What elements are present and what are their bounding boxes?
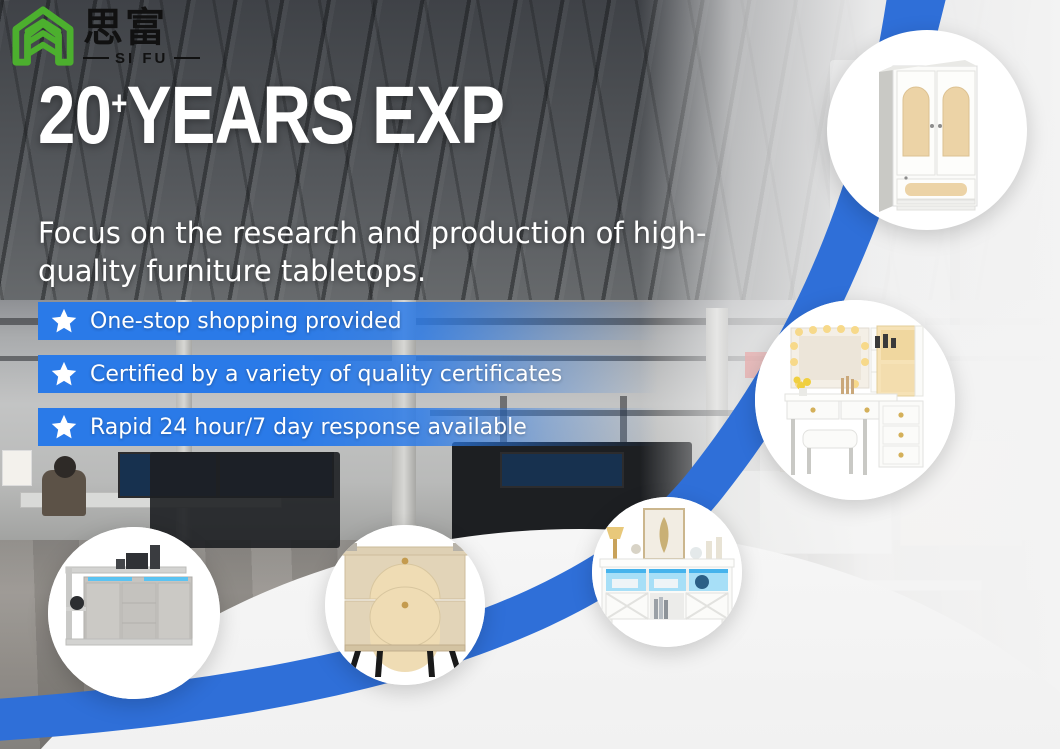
grey-led-sideboard-illustration [48,527,220,699]
logo-chinese-name: 思富 [83,8,200,48]
product-circle-vanity[interactable] [755,300,955,500]
product-circle-shoe-cabinet[interactable] [325,525,485,685]
logo-roman-name-row: SI FU [83,50,200,67]
logo-roman-name: SI FU [115,50,168,67]
star-icon [50,360,78,388]
headline-plus: + [111,85,126,123]
led-vanity-desk-illustration [755,300,955,500]
feature-label: Certified by a variety of quality certif… [90,362,562,387]
product-circle-tv-stand[interactable] [592,497,742,647]
led-tv-stand-illustration [592,497,742,647]
headline-rest: YEARS EXP [127,70,505,161]
brand-logo[interactable]: 思富 SI FU [12,6,200,68]
star-icon [50,413,78,441]
logo-dash-left [83,57,109,59]
feature-item-1: One-stop shopping provided [38,302,658,340]
headline-number: 20 [38,70,111,161]
feature-label: Rapid 24 hour/7 day response available [90,415,527,440]
rattan-shoe-cabinet-illustration [325,525,485,685]
product-circle-sideboard[interactable] [48,527,220,699]
logo-dash-right [174,57,200,59]
feature-item-3: Rapid 24 hour/7 day response available [38,408,658,446]
feature-label: One-stop shopping provided [90,309,402,334]
star-icon [50,307,78,335]
product-circle-wardrobe[interactable] [827,30,1027,230]
subheadline: Focus on the research and production of … [38,214,778,291]
feature-item-2: Certified by a variety of quality certif… [38,355,658,393]
marketing-banner: 思富 SI FU 20+YEARS EXP Focus on the resea… [0,0,1060,749]
white-rattan-wardrobe-illustration [827,30,1027,230]
page-title: 20+YEARS EXP [38,78,504,153]
feature-list: One-stop shopping provided Certified by … [38,302,658,461]
house-chevron-logo-icon [12,6,74,68]
